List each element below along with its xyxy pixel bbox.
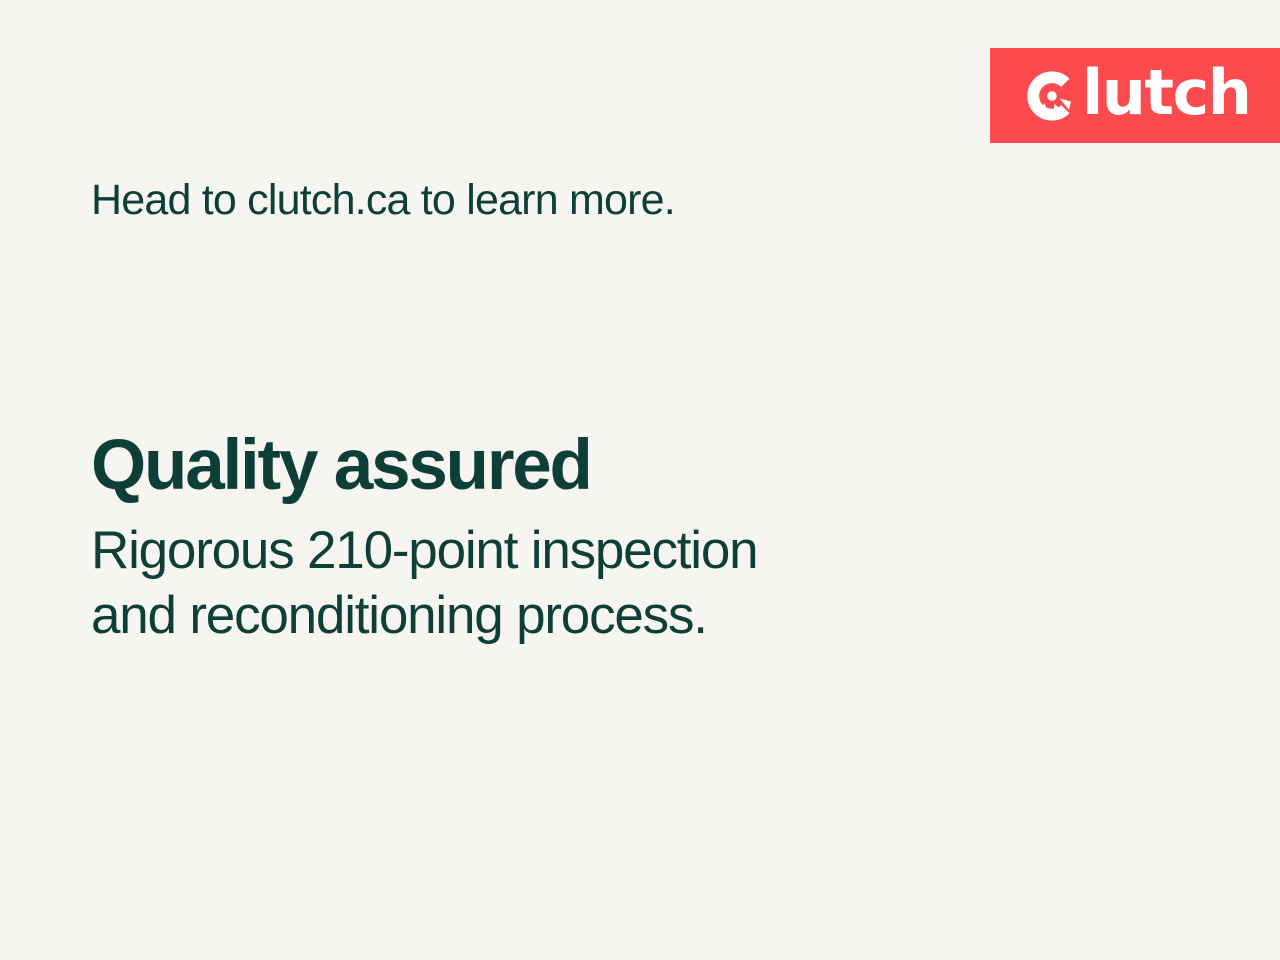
clutch-wordmark: lutch xyxy=(1082,62,1250,124)
clutch-logo[interactable]: lutch xyxy=(1024,65,1250,127)
subhead-line-1: Rigorous 210-point inspection xyxy=(91,519,1091,584)
page-title: Quality assured xyxy=(91,430,1091,501)
subhead-line-2: and reconditioning process. xyxy=(91,584,1091,649)
subhead-paragraph: Rigorous 210-point inspection and recond… xyxy=(91,519,1091,648)
cta-eyebrow-text: Head to clutch.ca to learn more. xyxy=(91,176,675,225)
slide-root: lutch Head to clutch.ca to learn more. Q… xyxy=(0,0,1280,960)
clutch-wheel-mark-icon xyxy=(1024,68,1080,124)
main-content-block: Quality assured Rigorous 210-point inspe… xyxy=(91,430,1091,648)
brand-banner: lutch xyxy=(990,48,1280,143)
